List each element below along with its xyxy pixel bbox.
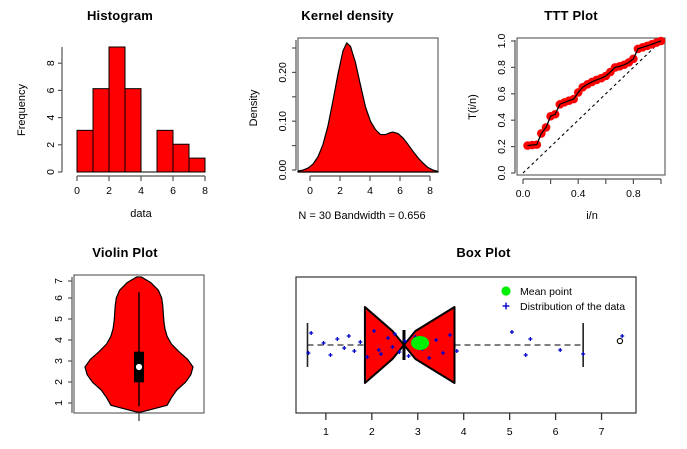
violin-ytick-1: 1 <box>53 400 65 406</box>
violin-ytick-6: 6 <box>53 295 65 301</box>
boxplot-data-point <box>620 334 624 338</box>
density-ytick-000: 0.00 <box>277 160 289 181</box>
boxplot-xtick: 4 <box>461 426 467 438</box>
density-xtick-0: 0 <box>307 185 313 197</box>
boxplot-data-point <box>407 354 411 358</box>
ttt-xaxis: 0.0 0.4 0.8 i/n <box>516 179 661 222</box>
kernel-density-svg: 0.00 0.10 0.20 Density 0 2 4 6 8 N = 30 … <box>240 0 455 230</box>
histogram-bar <box>189 158 205 172</box>
boxplot-xtick: 7 <box>599 426 605 438</box>
ttt-yaxis: 0.0 0.2 0.4 0.6 0.8 1.0 T(i/n) <box>467 34 515 181</box>
histogram-yaxis: 0 2 4 6 8 Frequency <box>16 47 62 175</box>
density-xtick-6: 6 <box>397 185 403 197</box>
boxplot-data-point <box>309 331 313 335</box>
histogram-xtick-8: 8 <box>202 185 208 197</box>
boxplot-graphics <box>306 307 624 383</box>
ttt-xtick-08: 0.8 <box>626 188 641 200</box>
boxplot-data-point <box>342 346 346 350</box>
ttt-xlabel: i/n <box>586 210 598 222</box>
boxplot-data-point <box>528 337 532 341</box>
violin-ytick-7: 7 <box>53 278 65 284</box>
violin-yaxis: 1 2 3 4 5 6 7 <box>53 277 72 413</box>
violin-ytick-4: 4 <box>53 337 65 343</box>
histogram-ytick-4: 4 <box>45 115 57 121</box>
boxplot-data-point <box>510 330 514 334</box>
histogram-title: Histogram <box>0 8 240 23</box>
boxplot-data-point <box>347 334 351 338</box>
histogram-bars <box>77 47 205 172</box>
histogram-xaxis: 0 2 4 6 8 data <box>74 176 208 220</box>
histogram-ytick-0: 0 <box>45 169 57 175</box>
ttt-plot-frame <box>517 38 665 175</box>
boxplot-xtick: 1 <box>323 426 329 438</box>
density-xtick-8: 8 <box>427 185 433 197</box>
violin-ytick-5: 5 <box>53 316 65 322</box>
ttt-ytick-08: 0.8 <box>496 60 508 75</box>
panel-boxplot: Box Plot Mean point Distribution of the … <box>280 235 687 449</box>
boxplot-data-point <box>581 352 585 356</box>
kernel-density-xaxis: 0 2 4 6 8 N = 30 Bandwidth = 0.656 <box>298 176 433 222</box>
density-xtick-2: 2 <box>337 185 343 197</box>
histogram-bar <box>93 89 109 172</box>
panel-kernel-density: Kernel density 0.00 0.10 0.20 Density 0 … <box>240 0 455 230</box>
histogram-bar <box>173 144 189 172</box>
histogram-xlabel: data <box>130 208 152 220</box>
boxplot-outlier <box>617 338 622 343</box>
boxplot-xtick: 6 <box>553 426 559 438</box>
boxplot-data-point <box>524 353 528 357</box>
violin-ytick-3: 3 <box>53 358 65 364</box>
boxplot-xtick: 5 <box>507 426 513 438</box>
histogram-svg: 0 2 4 6 8 Frequency 0 2 4 6 8 data <box>0 0 240 230</box>
density-ylabel: Density <box>248 89 260 126</box>
legend-mean-label: Mean point <box>520 286 572 298</box>
ttt-reference-line <box>523 41 661 173</box>
ttt-svg: 0.0 0.2 0.4 0.6 0.8 1.0 T(i/n) 0.0 0.4 0… <box>455 0 687 230</box>
ttt-ylabel: T(i/n) <box>467 94 479 120</box>
density-ytick-010: 0.10 <box>277 111 289 132</box>
legend-mean-icon <box>501 286 510 295</box>
boxplot-mean-point <box>411 336 429 350</box>
histogram-xtick-2: 2 <box>106 185 112 197</box>
histogram-ylabel: Frequency <box>16 84 28 136</box>
density-subtitle: N = 30 Bandwidth = 0.656 <box>298 210 425 222</box>
boxplot-box <box>365 307 455 383</box>
violin-svg: 1 2 3 4 5 6 7 <box>0 235 250 449</box>
legend-distribution-icon <box>503 303 510 310</box>
kernel-density-yaxis: 0.00 0.10 0.20 Density <box>248 40 296 180</box>
kernel-density-title: Kernel density <box>240 8 455 23</box>
boxplot-title: Box Plot <box>280 245 687 260</box>
boxplot-data-point <box>335 337 339 341</box>
panel-violin: Violin Plot 1 2 3 4 5 6 7 <box>0 235 250 449</box>
histogram-xtick-0: 0 <box>74 185 80 197</box>
density-curve <box>298 43 438 172</box>
violin-title: Violin Plot <box>0 245 250 260</box>
histogram-ytick-8: 8 <box>45 60 57 66</box>
histogram-xtick-4: 4 <box>138 185 144 197</box>
boxplot-data-point <box>328 353 332 357</box>
ttt-ytick-02: 0.2 <box>496 139 508 154</box>
boxplot-svg: Mean point Distribution of the data 1234… <box>280 235 687 449</box>
histogram-bar <box>125 89 141 172</box>
ttt-series <box>523 37 665 173</box>
ttt-ytick-00: 0.0 <box>496 166 508 181</box>
boxplot-xaxis: 1234567 <box>323 413 605 438</box>
histogram-ytick-6: 6 <box>45 87 57 93</box>
histogram-bar <box>109 47 125 172</box>
histogram-xtick-6: 6 <box>170 185 176 197</box>
panel-histogram: Histogram 0 2 4 6 8 Frequency 0 2 4 <box>0 0 240 230</box>
legend-distribution-label: Distribution of the data <box>520 301 625 313</box>
boxplot-xtick: 3 <box>415 426 421 438</box>
histogram-bar <box>77 130 93 172</box>
density-xtick-4: 4 <box>367 185 373 197</box>
histogram-bar <box>157 130 173 172</box>
violin-body <box>85 277 193 412</box>
density-area <box>298 43 438 172</box>
boxplot-data-point <box>358 340 362 344</box>
violin-ytick-2: 2 <box>53 379 65 385</box>
ttt-ytick-10: 1.0 <box>496 34 508 49</box>
ttt-xtick-00: 0.0 <box>516 188 531 200</box>
ttt-xtick-04: 0.4 <box>571 188 586 200</box>
ttt-title: TTT Plot <box>455 8 687 23</box>
density-ytick-020: 0.20 <box>277 62 289 83</box>
violin-median-point <box>136 364 142 370</box>
panel-ttt: TTT Plot 0.0 0.2 0.4 0.6 0.8 1.0 T(i/n) <box>455 0 687 230</box>
boxplot-xtick: 2 <box>369 426 375 438</box>
boxplot-data-point <box>558 348 562 352</box>
histogram-ytick-2: 2 <box>45 142 57 148</box>
boxplot-data-point <box>352 349 356 353</box>
ttt-ytick-06: 0.6 <box>496 86 508 101</box>
ttt-ytick-04: 0.4 <box>496 113 508 128</box>
boxplot-legend: Mean point Distribution of the data <box>501 286 625 313</box>
